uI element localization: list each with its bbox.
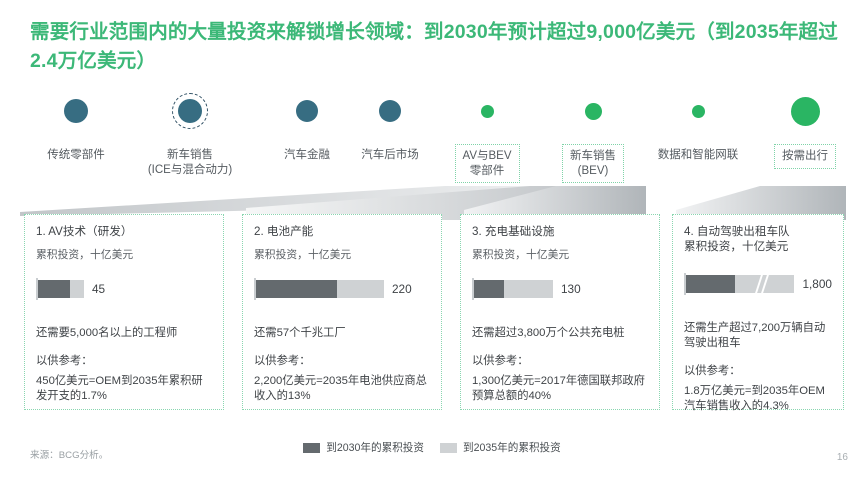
slide-root: 需要行业范围内的大量投资来解锁增长领域：到2030年预计超过9,000亿美元（到… xyxy=(0,0,864,479)
bar-segment-2035 xyxy=(504,280,553,298)
card-bar-zone: 220 xyxy=(254,266,430,324)
card-title: 2. 电池产能 xyxy=(254,224,430,239)
chain-node-circle-icon xyxy=(178,99,202,123)
stacked-bar xyxy=(474,280,553,298)
card-reference-text: 1.8万亿美元=到2035年OEM汽车销售收入的4.3% xyxy=(684,384,832,414)
chain-node-dot-wrap xyxy=(262,88,352,134)
legend-swatch-icon xyxy=(440,443,457,453)
card-title: 4. 自动驾驶出租车队 累积投资，十亿美元 xyxy=(684,224,832,254)
card-requirement-text: 还需要5,000名以上的工程师 xyxy=(36,326,212,341)
source-note: 来源：BCG分析。 xyxy=(30,447,108,461)
chain-node-8[interactable]: 按需出行 xyxy=(762,88,848,169)
chain-node-label: 汽车后市场 xyxy=(354,144,426,167)
legend-swatch-icon xyxy=(303,443,320,453)
card-reference-text: 2,200亿美元=2035年电池供应商总收入的13% xyxy=(254,374,430,404)
investment-card-1[interactable]: 1. AV技术（研发）累积投资，十亿美元45还需要5,000名以上的工程师以供参… xyxy=(24,214,224,410)
card-reference-text: 450亿美元=OEM到2035年累积研发开支的1.7% xyxy=(36,374,212,404)
chain-node-circle-icon xyxy=(64,99,88,123)
stacked-bar xyxy=(686,275,794,293)
chain-node-label: 数据和智能网联 xyxy=(651,144,746,167)
chain-node-dot-wrap xyxy=(342,88,438,134)
chain-node-label-holder: 新车销售 (ICE与混合动力) xyxy=(126,134,254,181)
investment-card-4[interactable]: 4. 自动驾驶出租车队 累积投资，十亿美元1,800还需生产超过7,200万辆自… xyxy=(672,214,844,410)
bar-segment-2035 xyxy=(337,280,384,298)
card-bar-zone: 130 xyxy=(472,266,648,324)
chain-node-circle-icon xyxy=(791,97,820,126)
chain-node-5[interactable]: AV与BEV 零部件 xyxy=(444,88,530,183)
bar-value-label: 220 xyxy=(392,282,412,296)
chain-node-label-holder: AV与BEV 零部件 xyxy=(444,134,530,183)
chain-node-label-holder: 传统零部件 xyxy=(28,134,124,167)
bar-segment-2030 xyxy=(686,275,735,293)
value-chain-row: 传统零部件新车销售 (ICE与混合动力)汽车金融汽车后市场AV与BEV 零部件新… xyxy=(0,88,864,188)
card-reference-label: 以供参考： xyxy=(36,352,212,368)
chain-node-label: AV与BEV 零部件 xyxy=(455,144,520,183)
page-title: 需要行业范围内的大量投资来解锁增长领域：到2030年预计超过9,000亿美元（到… xyxy=(30,18,842,76)
chain-node-dot-wrap xyxy=(553,88,633,134)
bar-segment-2030 xyxy=(38,280,70,298)
bar-segment-2035 xyxy=(70,280,84,298)
card-requirement-text: 还需生产超过7,200万辆自动驾驶出租车 xyxy=(684,321,832,351)
bar-value-label: 45 xyxy=(92,282,105,296)
legend-label: 到2035年的累积投资 xyxy=(463,440,561,455)
chain-node-label: 新车销售 (BEV) xyxy=(562,144,624,183)
bar-row: 1,800 xyxy=(684,273,832,295)
card-axis-label: 累积投资，十亿美元 xyxy=(472,246,648,262)
card-reference-label: 以供参考： xyxy=(472,352,648,368)
chain-node-dot-wrap xyxy=(28,88,124,134)
chain-node-label-holder: 按需出行 xyxy=(762,134,848,169)
chain-node-circle-icon xyxy=(481,105,494,118)
chain-node-label: 传统零部件 xyxy=(40,144,112,167)
chain-node-dot-wrap xyxy=(126,88,254,134)
chain-node-label: 汽车金融 xyxy=(277,144,337,167)
chain-node-label: 新车销售 (ICE与混合动力) xyxy=(141,144,239,181)
card-bar-zone: 45 xyxy=(36,266,212,324)
bar-segment-2035 xyxy=(735,275,795,293)
stacked-bar xyxy=(38,280,84,298)
bar-row: 220 xyxy=(254,278,430,300)
chain-node-circle-icon xyxy=(379,100,401,122)
chart-legend: 到2030年的累积投资到2035年的累积投资 xyxy=(0,440,864,455)
chain-node-3[interactable]: 汽车金融 xyxy=(262,88,352,167)
card-axis-label: 累积投资，十亿美元 xyxy=(36,246,212,262)
stacked-bar xyxy=(256,280,384,298)
bar-segment-2030 xyxy=(474,280,504,298)
chain-node-dot-wrap xyxy=(645,88,751,134)
legend-item-2030: 到2030年的累积投资 xyxy=(303,440,424,455)
cards-row: 1. AV技术（研发）累积投资，十亿美元45还需要5,000名以上的工程师以供参… xyxy=(0,214,864,422)
chain-node-label-holder: 汽车金融 xyxy=(262,134,352,167)
card-requirement-text: 还需57个千兆工厂 xyxy=(254,326,430,341)
legend-label: 到2030年的累积投资 xyxy=(326,440,424,455)
bar-row: 45 xyxy=(36,278,212,300)
bar-row: 130 xyxy=(472,278,648,300)
card-reference-label: 以供参考： xyxy=(254,352,430,368)
card-axis-label: 累积投资，十亿美元 xyxy=(254,246,430,262)
card-bar-zone: 1,800 xyxy=(684,261,832,319)
card-title: 1. AV技术（研发） xyxy=(36,224,212,239)
investment-card-3[interactable]: 3. 充电基础设施累积投资，十亿美元130还需超过3,800万个公共充电桩以供参… xyxy=(460,214,660,410)
chain-node-dot-wrap xyxy=(444,88,530,134)
chain-node-2[interactable]: 新车销售 (ICE与混合动力) xyxy=(126,88,254,181)
chain-node-label-holder: 汽车后市场 xyxy=(342,134,438,167)
chain-node-7[interactable]: 数据和智能网联 xyxy=(645,88,751,167)
bar-value-label: 130 xyxy=(561,282,581,296)
chain-node-6[interactable]: 新车销售 (BEV) xyxy=(553,88,633,183)
chain-node-label: 按需出行 xyxy=(774,144,836,169)
chain-node-circle-icon xyxy=(585,103,602,120)
investment-card-2[interactable]: 2. 电池产能累积投资，十亿美元220还需57个千兆工厂以供参考：2,200亿美… xyxy=(242,214,442,410)
chain-node-label-holder: 数据和智能网联 xyxy=(645,134,751,167)
legend-item-2035: 到2035年的累积投资 xyxy=(440,440,561,455)
chain-node-1[interactable]: 传统零部件 xyxy=(28,88,124,167)
chain-node-circle-icon xyxy=(692,105,705,118)
page-number: 16 xyxy=(837,452,848,463)
card-reference-text: 1,300亿美元=2017年德国联邦政府预算总额的40% xyxy=(472,374,648,404)
card-requirement-text: 还需超过3,800万个公共充电桩 xyxy=(472,326,648,341)
chain-node-label-holder: 新车销售 (BEV) xyxy=(553,134,633,183)
card-title: 3. 充电基础设施 xyxy=(472,224,648,239)
chain-node-dot-wrap xyxy=(762,88,848,134)
bar-value-label: 1,800 xyxy=(802,277,832,291)
card-reference-label: 以供参考： xyxy=(684,362,832,378)
bar-segment-2030 xyxy=(256,280,337,298)
chain-node-circle-icon xyxy=(296,100,318,122)
chain-node-4[interactable]: 汽车后市场 xyxy=(342,88,438,167)
